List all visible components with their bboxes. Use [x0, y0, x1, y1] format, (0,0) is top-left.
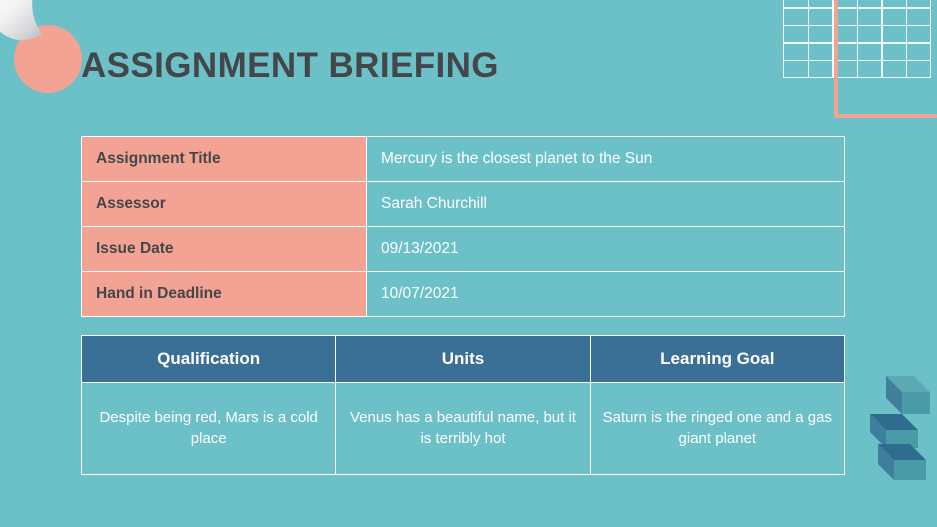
slide-canvas: ASSIGNMENT BRIEFING Assignment Title Mer…: [0, 0, 937, 527]
criteria-cell-units: Venus has a beautiful name, but it is te…: [336, 383, 590, 475]
table-row: Issue Date 09/13/2021: [82, 227, 845, 272]
table-row: Despite being red, Mars is a cold place …: [82, 383, 845, 475]
table-header-row: Qualification Units Learning Goal: [82, 336, 845, 383]
table-row: Assignment Title Mercury is the closest …: [82, 137, 845, 182]
paper-curl-icon: [0, 0, 58, 62]
page-title: ASSIGNMENT BRIEFING: [81, 48, 499, 83]
info-value-issue-date: 09/13/2021: [367, 227, 845, 272]
criteria-header-units: Units: [336, 336, 590, 383]
info-value-assessor: Sarah Churchill: [367, 182, 845, 227]
zigzag-ribbon-icon: [862, 372, 937, 484]
info-label-assessor: Assessor: [82, 182, 367, 227]
criteria-header-qualification: Qualification: [82, 336, 336, 383]
info-value-hand-in-deadline: 10/07/2021: [367, 272, 845, 317]
corner-line-icon: [783, 0, 937, 125]
table-row: Assessor Sarah Churchill: [82, 182, 845, 227]
info-label-hand-in-deadline: Hand in Deadline: [82, 272, 367, 317]
criteria-table: Qualification Units Learning Goal Despit…: [81, 335, 845, 475]
criteria-cell-learning-goal: Saturn is the ringed one and a gas giant…: [590, 383, 844, 475]
info-label-issue-date: Issue Date: [82, 227, 367, 272]
table-row: Hand in Deadline 10/07/2021: [82, 272, 845, 317]
criteria-cell-qualification: Despite being red, Mars is a cold place: [82, 383, 336, 475]
assignment-info-table: Assignment Title Mercury is the closest …: [81, 136, 845, 317]
info-value-assignment-title: Mercury is the closest planet to the Sun: [367, 137, 845, 182]
criteria-header-learning-goal: Learning Goal: [590, 336, 844, 383]
info-label-assignment-title: Assignment Title: [82, 137, 367, 182]
